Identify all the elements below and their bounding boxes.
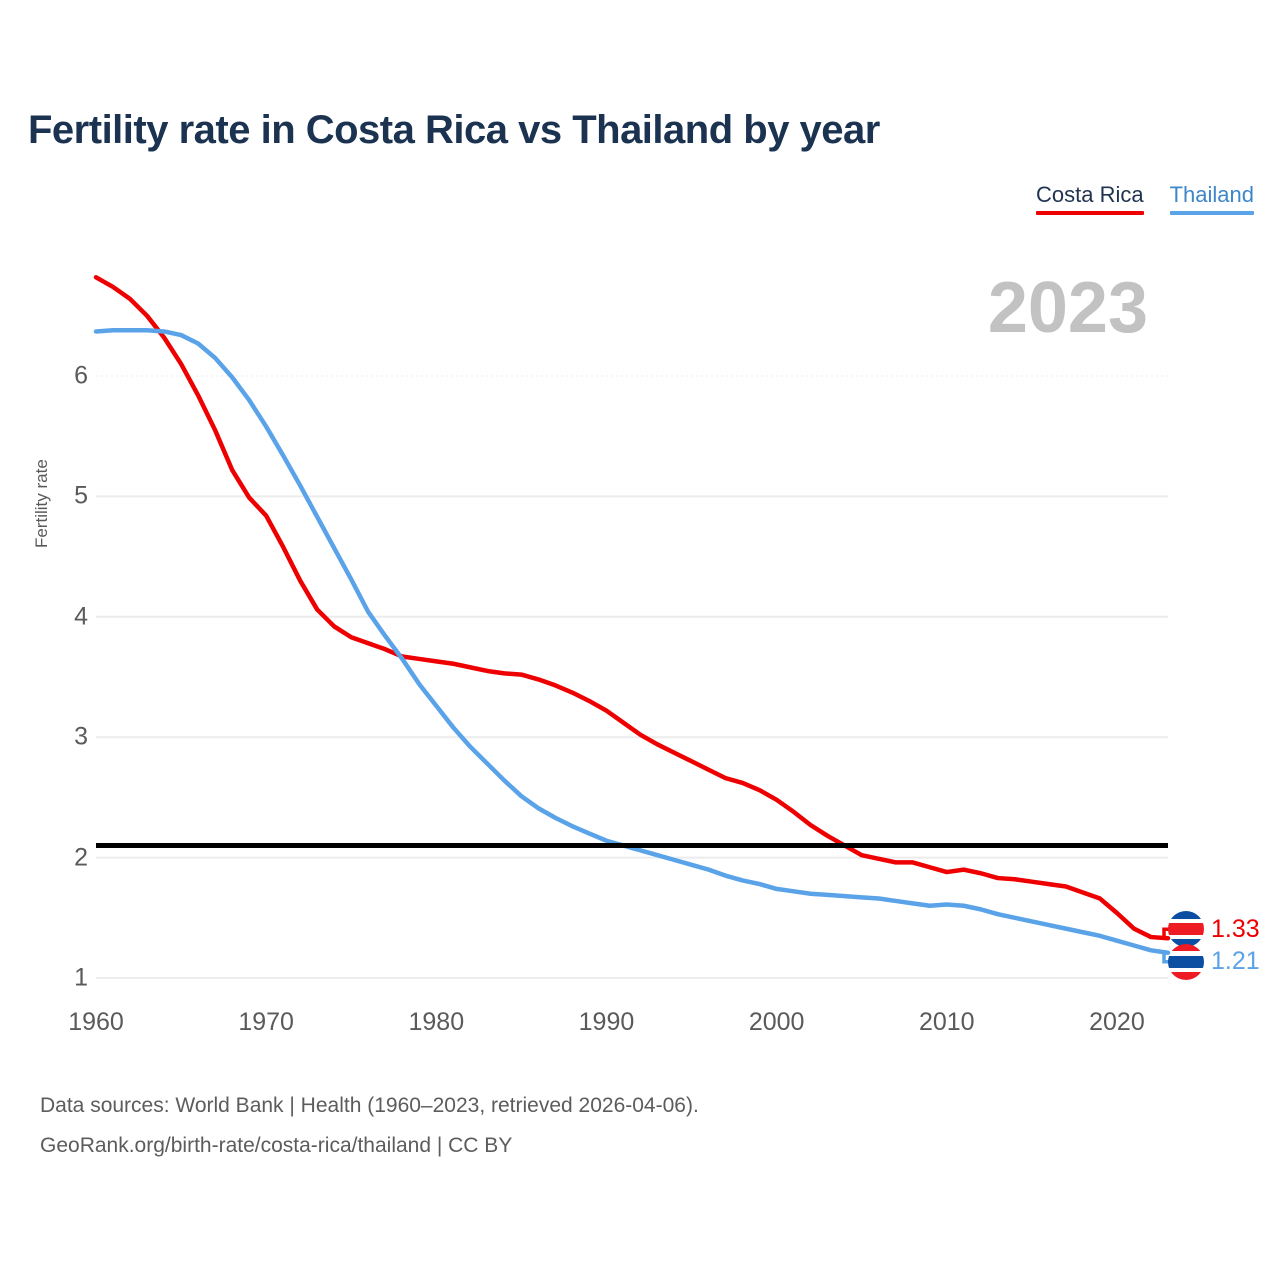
flag-band	[1168, 911, 1204, 919]
y-tick-2: 2	[42, 843, 88, 872]
x-tick-1980: 1980	[381, 1008, 491, 1037]
endpoint-value-costa-rica: 1.33	[1211, 915, 1260, 944]
chart-footer: Data sources: World Bank | Health (1960–…	[40, 1086, 699, 1166]
flag-band	[1168, 972, 1204, 979]
flag-band	[1168, 923, 1204, 935]
x-tick-1970: 1970	[211, 1008, 321, 1037]
flag-band	[1168, 944, 1204, 951]
footer-line-attribution: GeoRank.org/birth-rate/costa-rica/thaila…	[40, 1126, 699, 1166]
x-tick-2020: 2020	[1062, 1008, 1172, 1037]
y-tick-5: 5	[42, 482, 88, 511]
footer-line-sources: Data sources: World Bank | Health (1960–…	[40, 1086, 699, 1126]
x-tick-1990: 1990	[551, 1008, 661, 1037]
endpoint-value-thailand: 1.21	[1211, 947, 1260, 976]
x-tick-1960: 1960	[41, 1008, 151, 1037]
y-tick-6: 6	[42, 362, 88, 391]
x-tick-2010: 2010	[892, 1008, 1002, 1037]
endpoint-thailand[interactable]: 1.21	[1168, 944, 1260, 980]
series-line-thailand	[96, 330, 1168, 952]
flag-icon-thailand	[1168, 944, 1204, 980]
y-tick-1: 1	[42, 964, 88, 993]
flag-band	[1168, 956, 1204, 968]
flag-icon-costa-rica	[1168, 911, 1204, 947]
y-tick-4: 4	[42, 602, 88, 631]
endpoint-costa-rica[interactable]: 1.33	[1168, 911, 1260, 947]
x-tick-2000: 2000	[722, 1008, 832, 1037]
y-tick-3: 3	[42, 723, 88, 752]
